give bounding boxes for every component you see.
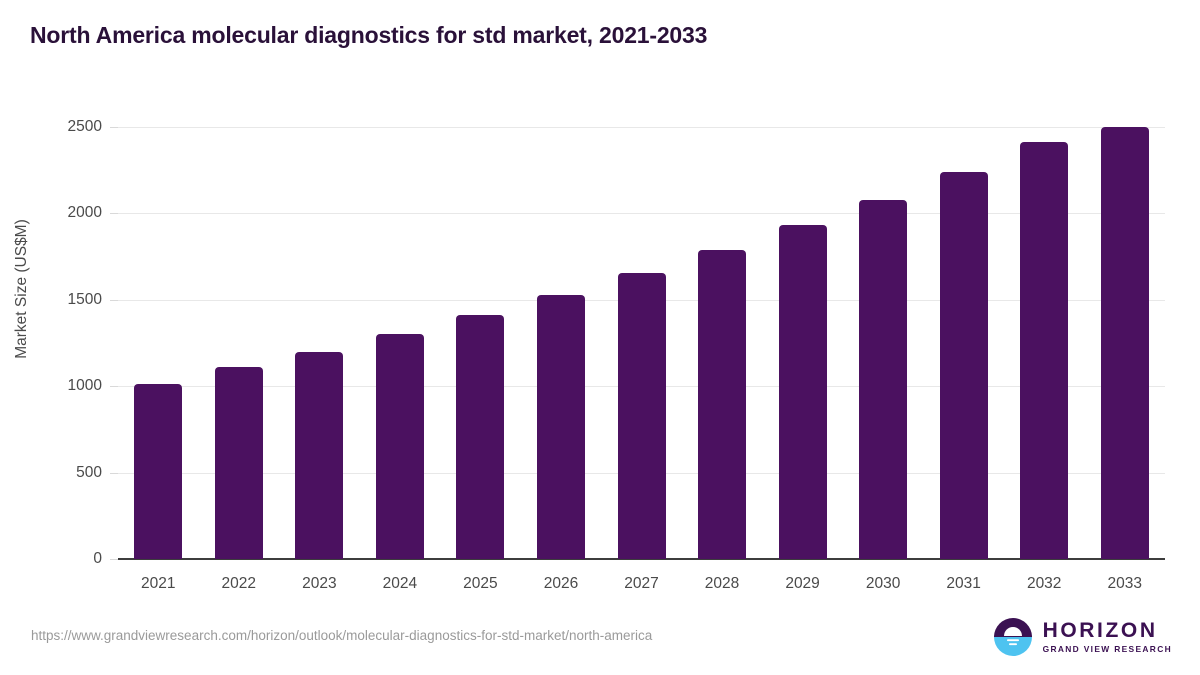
- y-axis-tick: [110, 473, 118, 474]
- bar-group[interactable]: 2022: [215, 127, 263, 559]
- bar-group[interactable]: 2028: [698, 127, 746, 559]
- bar-group[interactable]: 2030: [859, 127, 907, 559]
- bar[interactable]: [779, 225, 827, 559]
- bar[interactable]: [940, 172, 988, 559]
- bar-group[interactable]: 2023: [295, 127, 343, 559]
- chart-canvas: North America molecular diagnostics for …: [0, 0, 1200, 675]
- bar-group[interactable]: 2026: [537, 127, 585, 559]
- brand-logo: HORIZON GRAND VIEW RESEARCH: [993, 617, 1172, 657]
- horizon-logo-icon: [993, 617, 1033, 657]
- source-url[interactable]: https://www.grandviewresearch.com/horizo…: [31, 628, 652, 643]
- x-axis-tick-label: 2030: [866, 575, 900, 593]
- x-axis-tick-label: 2033: [1107, 575, 1141, 593]
- y-axis-tick: [110, 127, 118, 128]
- y-axis-tick-label: 2000: [68, 204, 102, 222]
- chart-title: North America molecular diagnostics for …: [30, 22, 707, 49]
- logo-subtitle: GRAND VIEW RESEARCH: [1043, 645, 1172, 653]
- x-axis-tick-label: 2031: [946, 575, 980, 593]
- y-axis-tick-label: 2500: [68, 118, 102, 136]
- bar[interactable]: [698, 250, 746, 559]
- bar[interactable]: [295, 352, 343, 559]
- y-axis-tick-label: 1500: [68, 291, 102, 309]
- bar-group[interactable]: 2032: [1020, 127, 1068, 559]
- bar[interactable]: [859, 200, 907, 559]
- bar[interactable]: [537, 295, 585, 559]
- y-axis-tick: [110, 213, 118, 214]
- bar[interactable]: [1101, 127, 1149, 559]
- x-axis-tick-label: 2022: [222, 575, 256, 593]
- bar-group[interactable]: 2025: [456, 127, 504, 559]
- x-axis-tick-label: 2032: [1027, 575, 1061, 593]
- plot-area: 05001000150020002500 2021202220232024202…: [118, 127, 1165, 559]
- bar-group[interactable]: 2027: [618, 127, 666, 559]
- x-axis-tick-label: 2024: [383, 575, 417, 593]
- bar-group[interactable]: 2033: [1101, 127, 1149, 559]
- x-axis-tick-label: 2025: [463, 575, 497, 593]
- y-axis-tick: [110, 386, 118, 387]
- bar-group[interactable]: 2024: [376, 127, 424, 559]
- x-axis-tick-label: 2029: [785, 575, 819, 593]
- bar[interactable]: [215, 367, 263, 559]
- bar-group[interactable]: 2031: [940, 127, 988, 559]
- bar[interactable]: [618, 273, 666, 559]
- bar-group[interactable]: 2029: [779, 127, 827, 559]
- y-axis-title: Market Size (US$M): [13, 119, 31, 459]
- logo-text: HORIZON GRAND VIEW RESEARCH: [1043, 620, 1172, 653]
- x-axis-tick-label: 2026: [544, 575, 578, 593]
- bar-group[interactable]: 2021: [134, 127, 182, 559]
- y-axis-tick: [110, 300, 118, 301]
- x-axis-tick-label: 2028: [705, 575, 739, 593]
- y-axis-tick-label: 500: [76, 464, 102, 482]
- x-axis-tick-label: 2021: [141, 575, 175, 593]
- x-axis-tick-label: 2027: [624, 575, 658, 593]
- bar[interactable]: [456, 315, 504, 559]
- bar-series: 2021202220232024202520262027202820292030…: [118, 127, 1165, 559]
- logo-wordmark: HORIZON: [1043, 620, 1158, 641]
- y-axis-tick-label: 1000: [68, 377, 102, 395]
- y-axis-tick: [110, 559, 118, 560]
- bar[interactable]: [134, 384, 182, 559]
- x-axis-tick-label: 2023: [302, 575, 336, 593]
- bar[interactable]: [1020, 142, 1068, 559]
- y-axis-tick-label: 0: [93, 550, 102, 568]
- bar[interactable]: [376, 334, 424, 559]
